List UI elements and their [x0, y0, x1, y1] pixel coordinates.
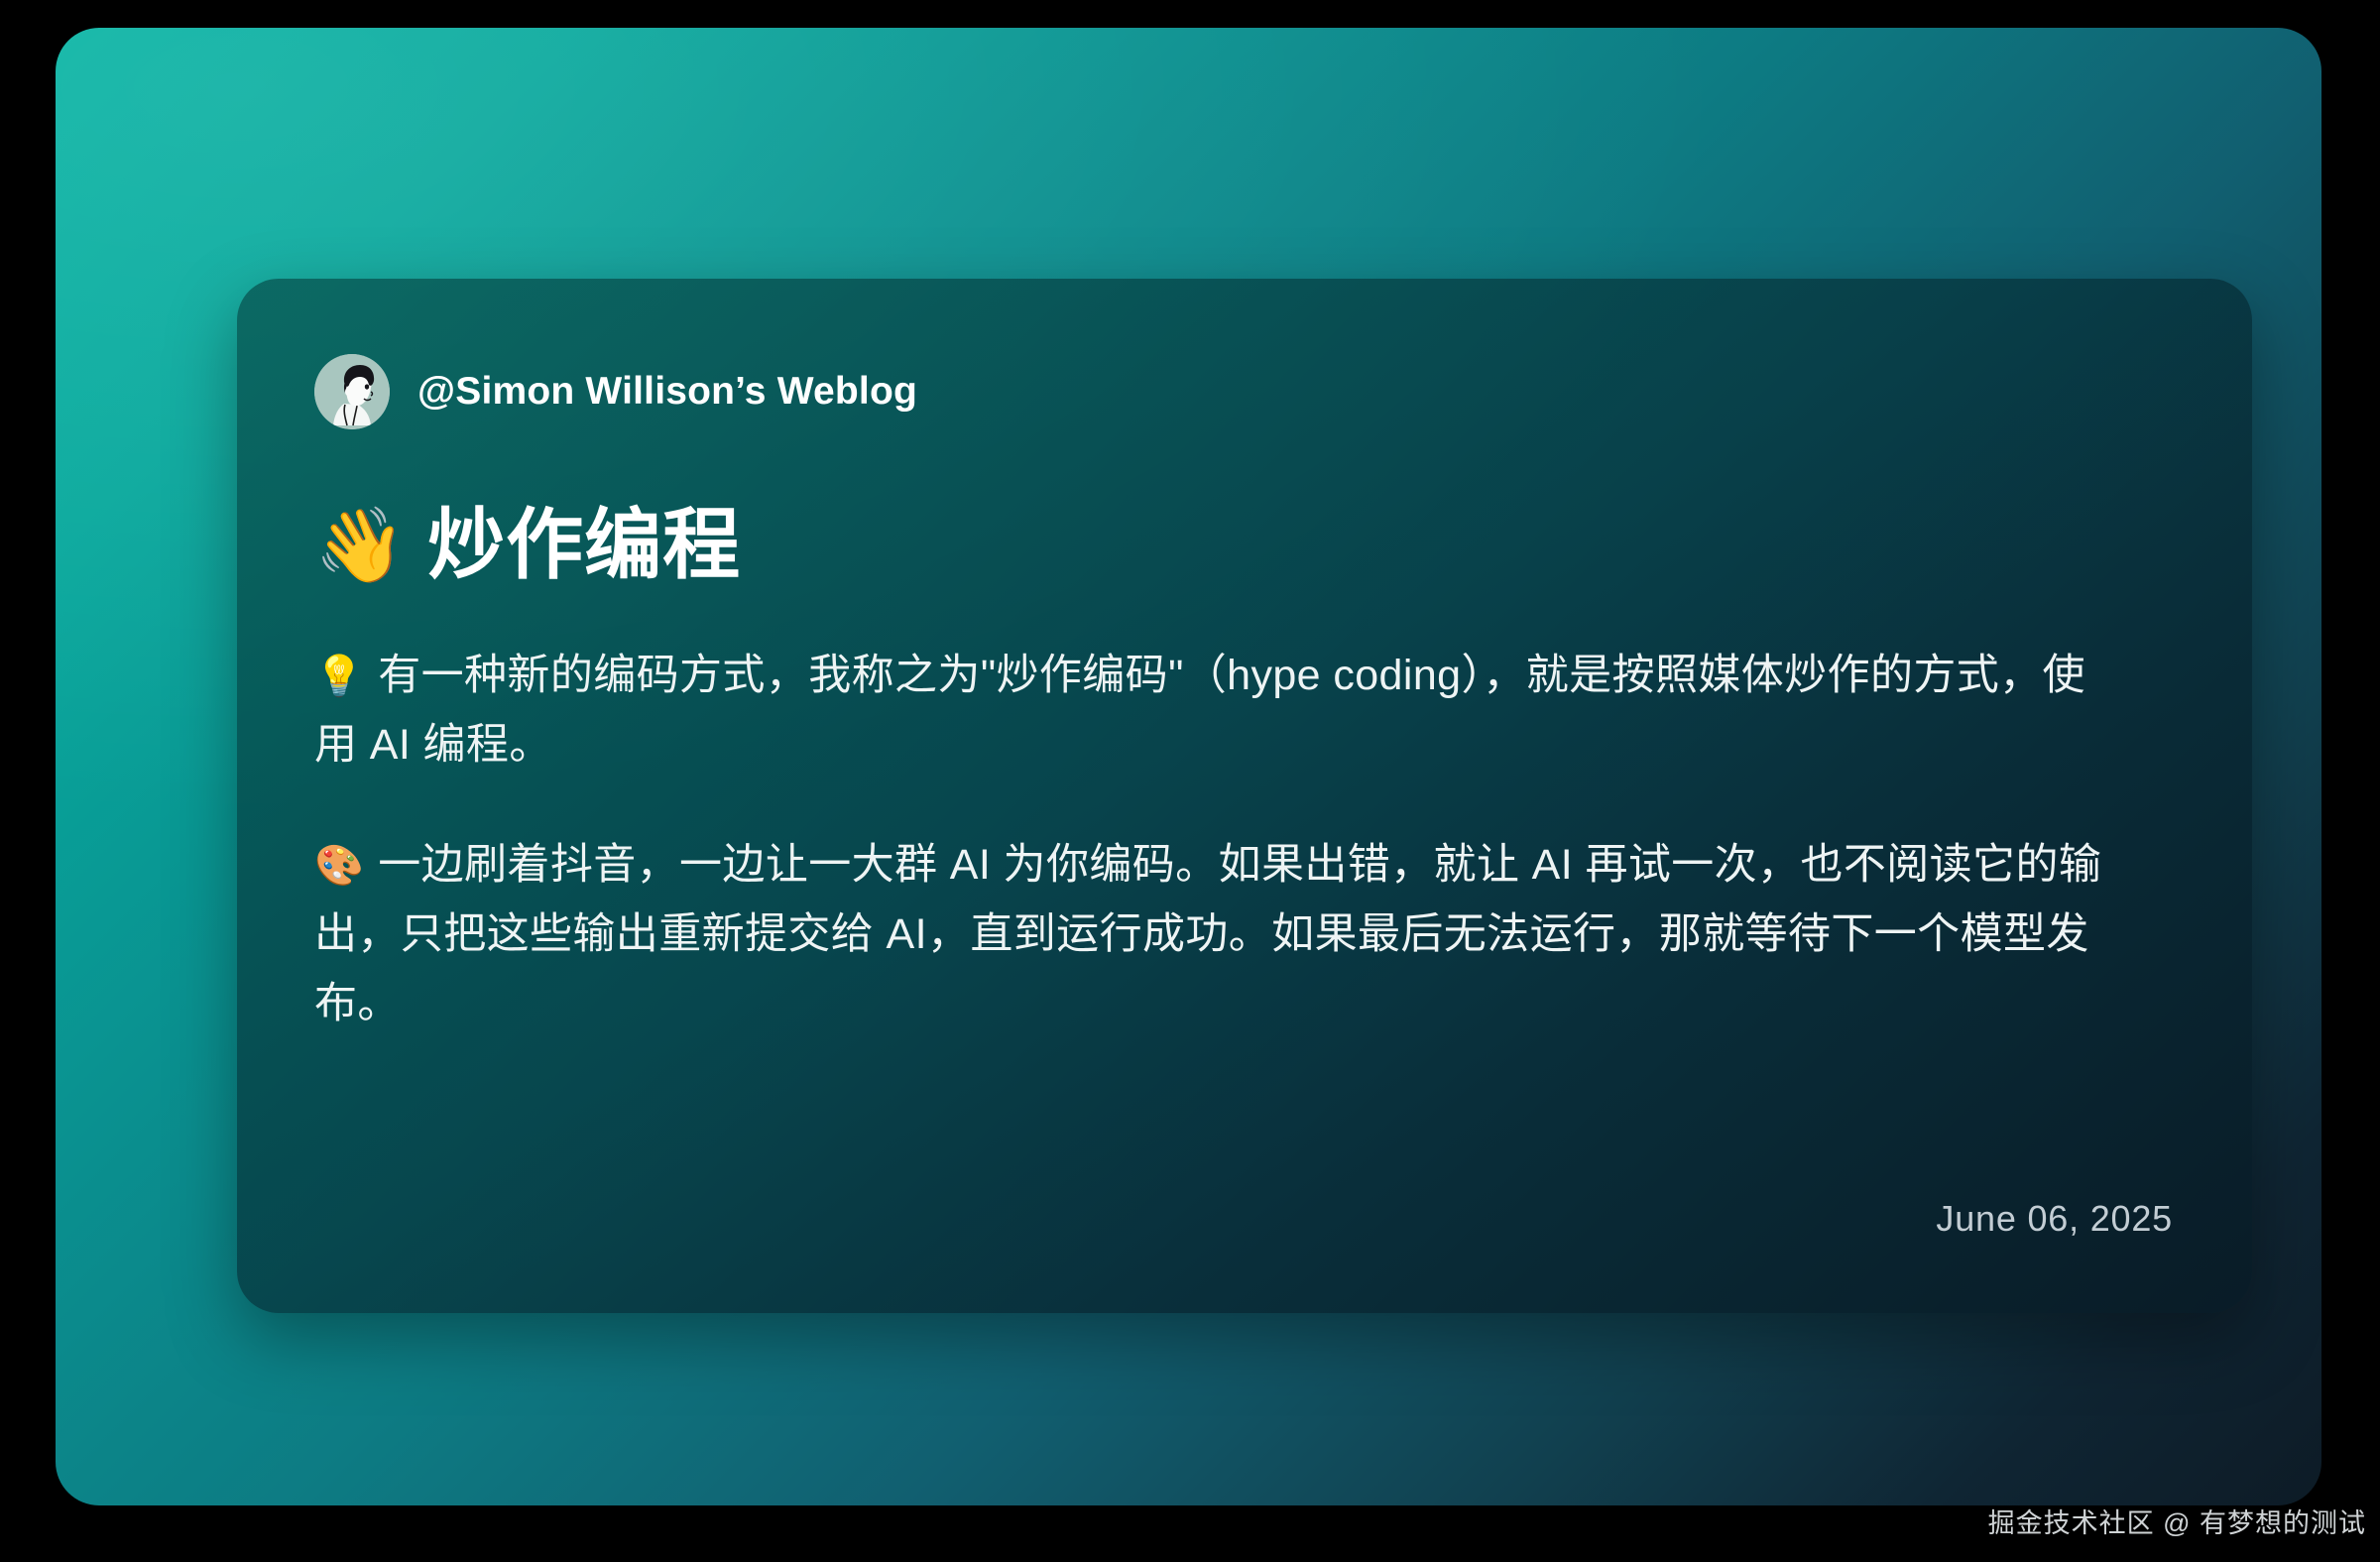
card-title: 👋 炒作编程	[314, 505, 2175, 586]
card-header: @Simon Willison’s Weblog	[314, 346, 2175, 437]
screenshot-stage: @Simon Willison’s Weblog 👋 炒作编程 💡有一种新的编码…	[0, 0, 2380, 1562]
page-title: 炒作编程	[427, 505, 741, 586]
avatar	[314, 354, 390, 429]
waving-hand-icon: 👋	[314, 509, 406, 582]
account-handle: @Simon Willison’s Weblog	[417, 370, 917, 414]
publish-date: June 06, 2025	[1936, 1198, 2173, 1240]
quote-card: @Simon Willison’s Weblog 👋 炒作编程 💡有一种新的编码…	[237, 279, 2252, 1313]
poster-background: @Simon Willison’s Weblog 👋 炒作编程 💡有一种新的编码…	[56, 28, 2321, 1505]
paragraph-1-text: 有一种新的编码方式，我称之为"炒作编码"（hype coding），就是按照媒体…	[314, 652, 2085, 769]
paragraph-1: 💡有一种新的编码方式，我称之为"炒作编码"（hype coding），就是按照媒…	[314, 642, 2109, 780]
paragraph-2: 🎨一边刷着抖音，一边让一大群 AI 为你编码。如果出错，就让 AI 再试一次，也…	[314, 831, 2109, 1038]
paragraph-2-text: 一边刷着抖音，一边让一大群 AI 为你编码。如果出错，就让 AI 再试一次，也不…	[314, 841, 2101, 1026]
lightbulb-icon: 💡	[314, 655, 364, 698]
watermark: 掘金技术社区 @ 有梦想的测试	[1988, 1502, 2366, 1540]
artist-palette-icon: 🎨	[314, 844, 364, 888]
